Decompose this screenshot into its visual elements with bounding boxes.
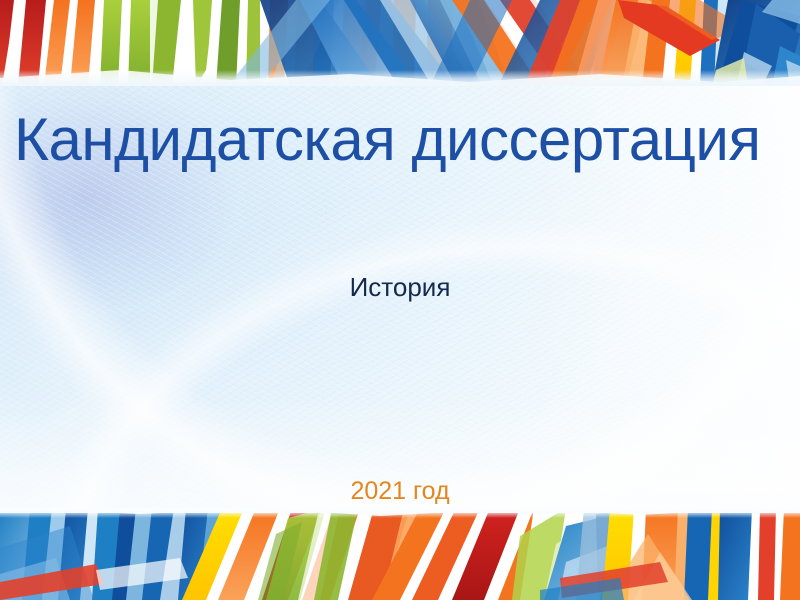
top-decorative-band xyxy=(0,0,800,86)
slide-year: 2021 год xyxy=(0,477,800,506)
slide-title: Кандидатская диссертация xyxy=(14,108,800,171)
slide-subtitle: История xyxy=(0,272,800,303)
bottom-decorative-band xyxy=(0,508,800,600)
presentation-slide: Кандидатская диссертация История 2021 го… xyxy=(0,0,800,600)
